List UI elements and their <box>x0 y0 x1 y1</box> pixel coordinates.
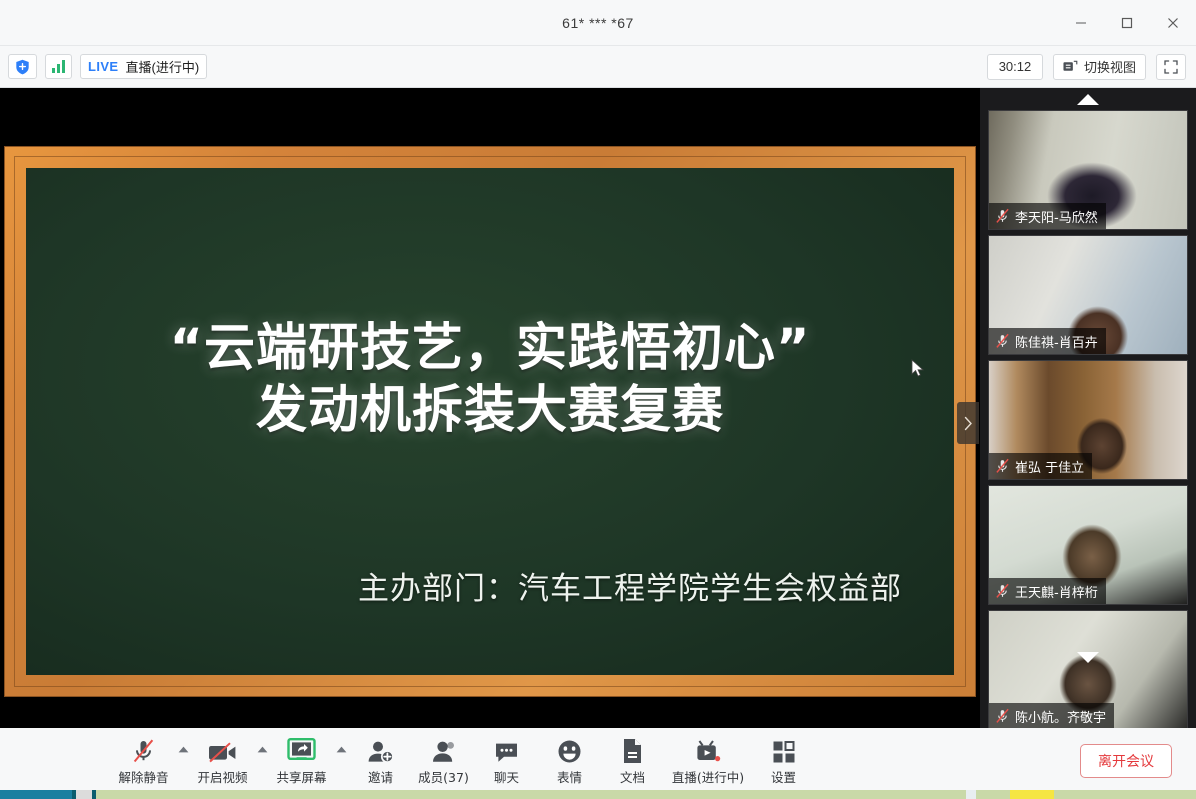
shield-icon <box>15 59 30 75</box>
participant-filmstrip[interactable]: 李天阳-马欣然 陈佳祺-肖百卉 <box>980 88 1196 728</box>
toolbar-button-start-video[interactable]: 开启视频 <box>191 733 254 786</box>
participant-name: 陈佳祺-肖百卉 <box>1015 332 1098 351</box>
video-options-caret[interactable] <box>254 746 270 772</box>
encryption-status-button[interactable] <box>8 54 37 79</box>
caret-up-icon <box>257 746 268 753</box>
window-title: 61* *** *67 <box>562 15 634 31</box>
info-bar-left-group: LIVE 直播(进行中) <box>0 54 207 79</box>
participant-tile[interactable]: 李天阳-马欣然 <box>988 110 1188 230</box>
network-quality-button[interactable] <box>45 54 72 79</box>
taskbar-segment <box>966 790 976 799</box>
fullscreen-icon <box>1164 60 1178 74</box>
switch-view-label: 切换视图 <box>1084 57 1136 76</box>
live-status-chip[interactable]: LIVE 直播(进行中) <box>80 54 207 79</box>
caret-up-icon <box>336 746 347 753</box>
minimize-button[interactable] <box>1058 0 1104 46</box>
meeting-timer: 30:12 <box>987 54 1043 80</box>
meeting-toolbar: 解除静音 开启视频 <box>0 728 1196 790</box>
slide-title-line-1: “云端研技艺，实践悟初心” <box>26 318 954 380</box>
toolbar-label: 文档 <box>620 767 645 786</box>
slide-title-line-2: 发动机拆装大赛复赛 <box>26 380 954 442</box>
triangle-down-icon <box>1076 651 1100 664</box>
meeting-info-bar: LIVE 直播(进行中) 30:12 切换视图 <box>0 46 1196 88</box>
maximize-icon <box>1121 17 1133 29</box>
toolbar-label: 聊天 <box>494 767 519 786</box>
live-status-label: 直播(进行中) <box>126 57 200 76</box>
live-broadcast-icon <box>694 737 723 764</box>
toolbar-button-unmute[interactable]: 解除静音 <box>112 733 175 786</box>
toolbar-button-settings[interactable]: 设置 <box>752 733 815 786</box>
maximize-button[interactable] <box>1104 0 1150 46</box>
participant-name-bar: 崔弘 于佳立 <box>989 453 1092 479</box>
switch-view-icon <box>1063 59 1078 74</box>
taskbar-segment <box>1010 790 1054 799</box>
triangle-up-icon <box>1076 93 1100 106</box>
mic-off-icon <box>995 458 1010 474</box>
participant-name: 陈小航。齐敬宇 <box>1015 707 1106 726</box>
signal-bars-icon <box>52 60 65 73</box>
participant-name: 李天阳-马欣然 <box>1015 207 1098 226</box>
filmstrip-tiles: 李天阳-马欣然 陈佳祺-肖百卉 <box>980 110 1196 728</box>
slide-title: “云端研技艺，实践悟初心” 发动机拆装大赛复赛 <box>26 318 954 442</box>
toolbar-label: 开启视频 <box>197 767 247 786</box>
mic-off-icon <box>995 583 1010 599</box>
fullscreen-button[interactable] <box>1156 54 1186 80</box>
invite-person-icon <box>367 737 394 764</box>
window-controls <box>1058 0 1196 46</box>
participant-name: 王天麒-肖梓桁 <box>1015 582 1098 601</box>
caret-up-icon <box>178 746 189 753</box>
toolbar-button-live-broadcast[interactable]: 直播(进行中) <box>664 733 752 786</box>
mic-off-icon <box>131 737 156 764</box>
document-icon <box>622 737 643 764</box>
participant-tile[interactable]: 陈佳祺-肖百卉 <box>988 235 1188 355</box>
toolbar-label: 解除静音 <box>118 767 168 786</box>
emoji-smile-icon <box>557 737 582 764</box>
toolbar-label: 表情 <box>557 767 582 786</box>
toolbar-label: 设置 <box>771 767 796 786</box>
share-options-caret[interactable] <box>333 746 349 772</box>
toolbar-button-invite[interactable]: 邀请 <box>349 733 412 786</box>
participant-name: 崔弘 于佳立 <box>1015 457 1084 476</box>
toolbar-label: 邀请 <box>368 767 393 786</box>
close-button[interactable] <box>1150 0 1196 46</box>
toolbar-items: 解除静音 开启视频 <box>112 733 815 786</box>
participant-name-bar: 陈佳祺-肖百卉 <box>989 328 1106 354</box>
participants-icon <box>431 737 456 764</box>
window-title-bar: 61* *** *67 <box>0 0 1196 46</box>
audio-options-caret[interactable] <box>175 746 191 772</box>
taskbar-segment <box>76 790 92 799</box>
toolbar-button-chat[interactable]: 聊天 <box>475 733 538 786</box>
participant-name-bar: 陈小航。齐敬宇 <box>989 703 1114 728</box>
shared-screen-stage[interactable]: “云端研技艺，实践悟初心” 发动机拆装大赛复赛 主办部门：汽车工程学院学生会权益… <box>0 88 980 728</box>
info-bar-right-group: 30:12 切换视图 <box>987 54 1196 80</box>
desktop-taskbar-sliver <box>0 790 1196 799</box>
filmstrip-scroll-up-button[interactable] <box>980 88 1196 110</box>
toolbar-label: 成员(37) <box>418 767 469 786</box>
participant-tile[interactable]: 王天麒-肖梓桁 <box>988 485 1188 605</box>
participant-tile[interactable]: 崔弘 于佳立 <box>988 360 1188 480</box>
close-icon <box>1167 17 1179 29</box>
switch-view-button[interactable]: 切换视图 <box>1053 54 1146 80</box>
participant-name-bar: 王天麒-肖梓桁 <box>989 578 1106 604</box>
chat-bubble-icon <box>494 737 519 764</box>
share-screen-icon <box>285 737 318 764</box>
chalkboard-slide: “云端研技艺，实践悟初心” 发动机拆装大赛复赛 主办部门：汽车工程学院学生会权益… <box>26 168 954 675</box>
taskbar-segment <box>0 790 72 799</box>
toolbar-button-share-screen[interactable]: 共享屏幕 <box>270 733 333 786</box>
live-badge: LIVE <box>88 59 119 74</box>
filmstrip-scroll-down-button[interactable] <box>980 651 1196 664</box>
mic-off-icon <box>995 708 1010 724</box>
participant-tile[interactable]: 陈小航。齐敬宇 <box>988 610 1188 728</box>
toolbar-label: 共享屏幕 <box>276 767 326 786</box>
mic-off-icon <box>995 333 1010 349</box>
toolbar-button-documents[interactable]: 文档 <box>601 733 664 786</box>
video-off-icon <box>208 737 237 764</box>
toolbar-button-participants[interactable]: 成员(37) <box>412 733 475 786</box>
minimize-icon <box>1075 17 1087 29</box>
toolbar-button-emoji[interactable]: 表情 <box>538 733 601 786</box>
mic-off-icon <box>995 208 1010 224</box>
mouse-pointer-icon <box>911 359 925 379</box>
slide-subtitle: 主办部门：汽车工程学院学生会权益部 <box>358 563 902 608</box>
participant-name-bar: 李天阳-马欣然 <box>989 203 1106 229</box>
collapse-filmstrip-button[interactable] <box>957 402 979 444</box>
leave-meeting-button[interactable]: 离开会议 <box>1080 744 1172 778</box>
presentation-slide-frame: “云端研技艺，实践悟初心” 发动机拆装大赛复赛 主办部门：汽车工程学院学生会权益… <box>4 146 976 697</box>
settings-grid-icon <box>772 737 796 764</box>
chevron-right-icon <box>964 416 973 431</box>
toolbar-label: 直播(进行中) <box>672 767 744 786</box>
